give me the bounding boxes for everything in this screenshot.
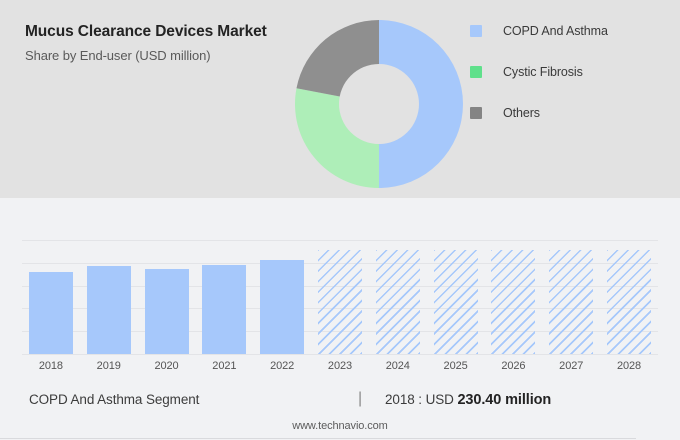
bar-forecast[interactable] bbox=[607, 250, 651, 354]
bar-slot bbox=[311, 240, 369, 354]
footer-url: www.technavio.com bbox=[0, 420, 680, 432]
legend-square-icon bbox=[470, 107, 482, 119]
bar-slot bbox=[253, 240, 311, 354]
bar-slot bbox=[542, 240, 600, 354]
legend-item-cystic-fibrosis[interactable]: Cystic Fibrosis bbox=[470, 51, 670, 92]
legend-square-icon bbox=[470, 25, 482, 37]
bar-actual[interactable] bbox=[145, 269, 189, 354]
header-band: Mucus Clearance Devices Market Share by … bbox=[0, 0, 680, 198]
legend: COPD And Asthma Cystic Fibrosis Others bbox=[470, 10, 670, 133]
bar-slot bbox=[369, 240, 427, 354]
x-axis-label: 2020 bbox=[138, 360, 196, 372]
bar-slot bbox=[485, 240, 543, 354]
bar-slot bbox=[80, 240, 138, 354]
bar-slot bbox=[427, 240, 485, 354]
legend-item-copd-and-asthma[interactable]: COPD And Asthma bbox=[470, 10, 670, 51]
footer-value-prefix: 2018 : USD bbox=[385, 392, 454, 407]
x-axis-label: 2025 bbox=[427, 360, 485, 372]
bar-chart-bars bbox=[22, 240, 658, 354]
legend-item-others[interactable]: Others bbox=[470, 92, 670, 133]
legend-item-label: Others bbox=[503, 106, 540, 120]
legend-item-label: COPD And Asthma bbox=[503, 24, 608, 38]
footer-segment-label: COPD And Asthma Segment bbox=[29, 392, 199, 407]
bar-forecast[interactable] bbox=[549, 250, 593, 354]
page-title: Mucus Clearance Devices Market bbox=[25, 22, 295, 42]
donut-hole bbox=[339, 64, 419, 144]
bar-slot bbox=[138, 240, 196, 354]
donut-chart-svg bbox=[295, 20, 463, 188]
chart-infographic: Mucus Clearance Devices Market Share by … bbox=[0, 0, 680, 440]
x-axis-label: 2024 bbox=[369, 360, 427, 372]
x-axis-label: 2026 bbox=[485, 360, 543, 372]
x-axis-label: 2022 bbox=[253, 360, 311, 372]
x-axis-label: 2019 bbox=[80, 360, 138, 372]
x-axis-label: 2018 bbox=[22, 360, 80, 372]
bar-slot bbox=[600, 240, 658, 354]
x-axis-label: 2023 bbox=[311, 360, 369, 372]
bar-actual[interactable] bbox=[260, 260, 304, 354]
footer-divider: | bbox=[358, 390, 362, 408]
title-block: Mucus Clearance Devices Market Share by … bbox=[25, 22, 295, 65]
bar-slot bbox=[22, 240, 80, 354]
bar-actual[interactable] bbox=[29, 272, 73, 354]
footer-value-highlight: 230.40 million bbox=[457, 392, 551, 408]
footer: COPD And Asthma Segment | 2018 : USD 230… bbox=[0, 392, 680, 420]
bar-chart-axis-line bbox=[0, 438, 636, 439]
legend-square-icon bbox=[470, 66, 482, 78]
bar-actual[interactable] bbox=[87, 266, 131, 354]
legend-item-label: Cystic Fibrosis bbox=[503, 65, 583, 79]
page-subtitle: Share by End-user (USD million) bbox=[25, 47, 295, 65]
x-axis-label: 2027 bbox=[542, 360, 600, 372]
x-axis-label: 2028 bbox=[600, 360, 658, 372]
footer-value: 2018 : USD 230.40 million bbox=[385, 392, 551, 408]
x-axis-label: 2021 bbox=[195, 360, 253, 372]
bar-forecast[interactable] bbox=[376, 250, 420, 354]
bar-forecast[interactable] bbox=[491, 250, 535, 354]
bar-forecast[interactable] bbox=[318, 250, 362, 354]
bar-actual[interactable] bbox=[202, 265, 246, 354]
bar-forecast[interactable] bbox=[434, 250, 478, 354]
bar-slot bbox=[195, 240, 253, 354]
donut-chart bbox=[295, 20, 463, 188]
gridline bbox=[22, 354, 658, 355]
bar-chart-x-axis-labels: 2018201920202021202220232024202520262027… bbox=[22, 360, 658, 372]
